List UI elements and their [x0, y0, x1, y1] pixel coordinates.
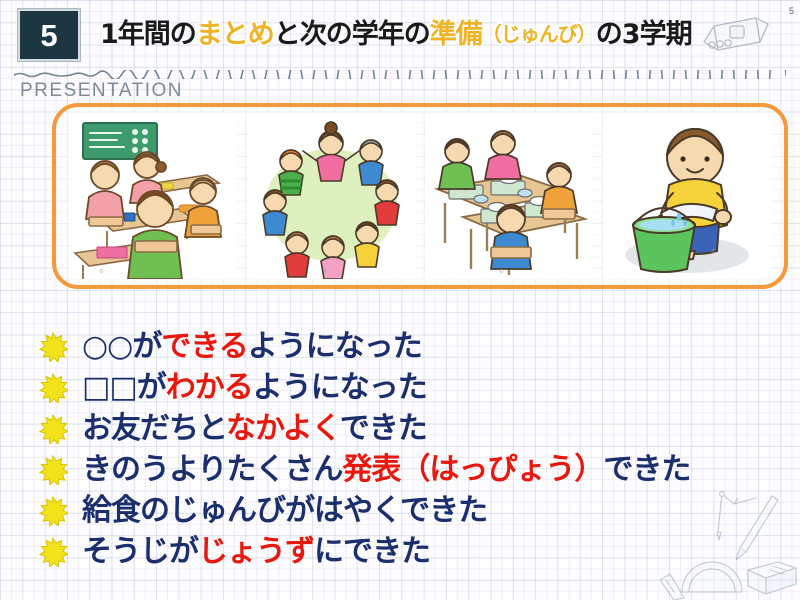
slide-number-badge: 5 [18, 9, 80, 61]
title-part-6: の3学期 [596, 21, 692, 48]
page-title: 1年間の まとめ と次の学年の 準備 （じゅんび） の3学期 [100, 12, 692, 56]
title-part-4: 準備 [430, 21, 482, 48]
yellow-sunburst-bullet-icon [38, 537, 68, 567]
slide-canvas: 5 1年間の まとめ と次の学年の 準備 （じゅんび） の3学期 5 [0, 0, 800, 600]
list-item: きのうよりたくさん発表（はっぴょう）できた [38, 449, 778, 490]
bullet-2-part-1: □□ [82, 370, 137, 405]
children-circle-illustration: © [247, 113, 415, 279]
bullet-3-part-1: お友だちと [82, 411, 226, 446]
svg-text:©: © [99, 268, 104, 275]
section-label: PRESENTATION [20, 80, 183, 102]
stationery-sketch [660, 488, 798, 600]
bullet-5-part-1: 給食のじゅんびがはやくできた [82, 493, 487, 528]
bullet-4-part-3: できた [603, 452, 690, 487]
list-item: ○○ができるようになった [38, 326, 778, 367]
cleaning-illustration: © [603, 113, 771, 279]
slide-header: 5 1年間の まとめ と次の学年の 準備 （じゅんび） の3学期 5 [0, 0, 800, 66]
title-part-5: （じゅんび） [482, 24, 596, 44]
ruler-icon [660, 574, 684, 600]
list-item-text: 給食のじゅんびがはやくできた [82, 496, 487, 526]
yellow-sunburst-bullet-icon [38, 332, 68, 362]
bullet-1-part-1: ○○ [82, 329, 132, 364]
bullet-3-part-3: できた [340, 411, 427, 446]
slide-number-text: 5 [40, 20, 57, 51]
list-item: □□がわかるようになった [38, 367, 778, 408]
bullet-6-part-3: にできた [314, 534, 430, 569]
bullet-4-part-1: きのうよりたくさん [82, 452, 342, 487]
yellow-sunburst-bullet-icon [38, 496, 68, 526]
yellow-sunburst-bullet-icon [38, 414, 68, 444]
list-item-text: お友だちとなかよくできた [82, 414, 427, 444]
protractor-icon [682, 562, 742, 592]
bullet-6-part-2: じょうず [198, 534, 314, 569]
page-number: 5 [789, 6, 794, 16]
list-item-text: きのうよりたくさん発表（はっぴょう）できた [82, 455, 690, 485]
list-item: お友だちとなかよくできた [38, 408, 778, 449]
bullet-1-part-3: できる [161, 329, 247, 364]
classroom-study-illustration: © [69, 113, 237, 279]
list-item-text: そうじがじょうずにできた [82, 537, 430, 567]
illustration-row: © [56, 107, 784, 285]
yellow-sunburst-bullet-icon [38, 455, 68, 485]
pencil-icon [736, 496, 778, 560]
bullet-3-part-2: なかよく [226, 411, 340, 446]
title-part-2: まとめ [196, 21, 274, 48]
svg-text:©: © [499, 268, 504, 275]
school-lunch-illustration: © [425, 113, 593, 279]
bullet-1-part-2: が [132, 329, 161, 364]
list-item-text: □□がわかるようになった [82, 373, 427, 403]
header-divider [14, 70, 786, 79]
bullet-1-part-4: ようになった [248, 329, 422, 364]
book-icon [748, 562, 796, 594]
bullet-4-part-2: 発表（はっぴょう） [342, 452, 603, 487]
title-part-1: 1年間の [100, 21, 196, 48]
yellow-sunburst-bullet-icon [38, 373, 68, 403]
svg-text:©: © [711, 248, 716, 255]
bullet-2-part-3: わかる [166, 370, 253, 405]
title-part-3: と次の学年の [274, 21, 430, 48]
bullet-2-part-2: が [137, 370, 166, 405]
svg-text:©: © [323, 268, 328, 275]
bullet-2-part-4: ようになった [253, 370, 427, 405]
bullet-6-part-1: そうじが [82, 534, 198, 569]
pencil-sharpener-icon [700, 12, 772, 56]
illustration-frame: © [52, 103, 788, 289]
list-item-text: ○○ができるようになった [82, 332, 422, 362]
